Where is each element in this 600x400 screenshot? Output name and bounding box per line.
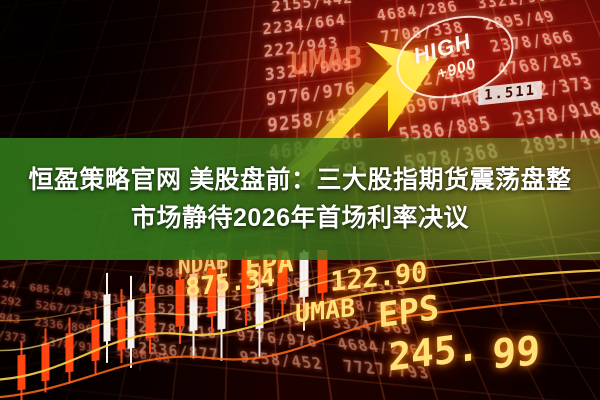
headline-text-block: 恒盈策略官网 美股盘前：三大股指期货震荡盘整 市场静待2026年首场利率决议 <box>0 138 600 260</box>
headline-line-2: 市场静待2026年首场利率决议 <box>131 202 469 234</box>
news-banner-image: 4553/232 9728/3 5875/885 2155/442 9258.4… <box>0 0 600 400</box>
headline-line-1: 恒盈策略官网 美股盘前：三大股指期货震荡盘整 <box>29 164 572 196</box>
